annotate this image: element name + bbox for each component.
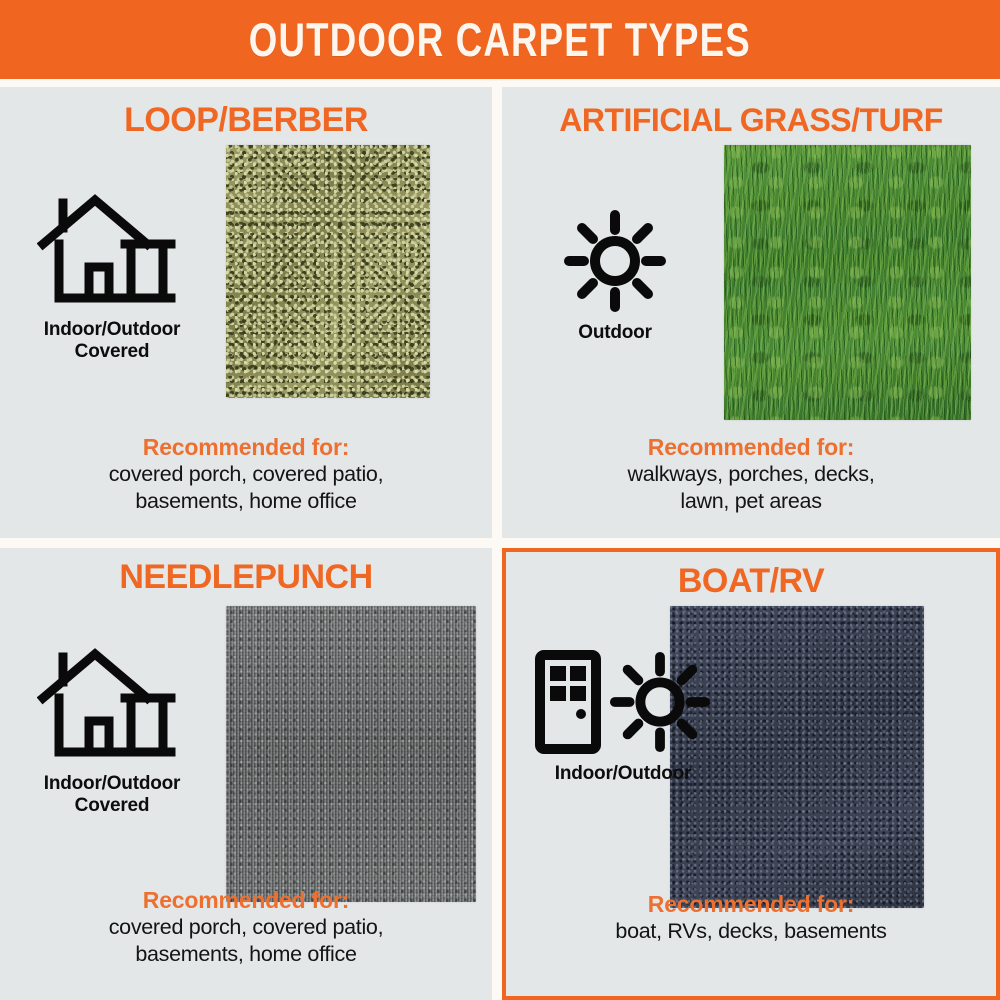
icon-block-boat-rv: Indoor/Outdoor: [528, 650, 718, 785]
recommendation-artificial-grass-turf: Recommended for: walkways, porches, deck…: [502, 433, 1000, 515]
icon-caption: Outdoor: [530, 322, 700, 344]
recommendation-needlepunch: Recommended for: covered porch, covered …: [0, 886, 492, 968]
icon-caption-line-2: Covered: [22, 341, 202, 363]
icon-caption: Indoor/Outdoor Covered: [22, 773, 202, 817]
sun-icon: [609, 651, 711, 758]
icon-row: [530, 209, 700, 318]
icon-caption-line-1: Indoor/Outdoor: [22, 773, 202, 795]
house-icon: [37, 194, 187, 315]
icon-block-needlepunch: Indoor/Outdoor Covered: [22, 648, 202, 817]
recommendation-body: covered porch, covered patio, basements,…: [0, 461, 492, 515]
recommendation-heading: Recommended for:: [502, 433, 1000, 461]
recommendation-body: covered porch, covered patio, basements,…: [0, 914, 492, 968]
loop-berber-carpet-swatch: [226, 145, 430, 398]
recommendation-line-2: basements, home office: [0, 488, 492, 515]
panel-title-needlepunch: NEEDLEPUNCH: [0, 558, 492, 596]
page-title: OUTDOOR CARPET TYPES: [249, 16, 751, 63]
icon-caption: Indoor/Outdoor: [528, 763, 718, 785]
icon-caption-line-1: Indoor/Outdoor: [22, 319, 202, 341]
recommendation-heading: Recommended for:: [506, 890, 996, 918]
recommendation-line-1: walkways, porches, decks,: [502, 461, 1000, 488]
icon-row: [528, 650, 718, 759]
panel-needlepunch[interactable]: NEEDLEPUNCH: [0, 548, 492, 1000]
recommendation-body: walkways, porches, decks, lawn, pet area…: [502, 461, 1000, 515]
recommendation-heading: Recommended for:: [0, 886, 492, 914]
panel-artificial-grass-turf[interactable]: ARTIFICIAL GRASS/TURF: [502, 87, 1000, 538]
outdoor-carpet-types-infographic: OUTDOOR CARPET TYPES LOOP/BERBER: [0, 0, 1000, 1000]
house-icon: [37, 648, 187, 769]
carpet-types-grid: LOOP/BERBER: [0, 87, 1000, 1000]
panel-title-loop-berber: LOOP/BERBER: [0, 101, 492, 139]
panel-title-boat-rv: BOAT/RV: [506, 562, 996, 600]
icon-block-artificial-grass-turf: Outdoor: [530, 209, 700, 344]
panel-boat-rv[interactable]: BOAT/RV: [502, 548, 1000, 1000]
icon-caption: Indoor/Outdoor Covered: [22, 319, 202, 363]
recommendation-loop-berber: Recommended for: covered porch, covered …: [0, 433, 492, 515]
recommendation-body: boat, RVs, decks, basements: [506, 918, 996, 945]
icon-row: [22, 194, 202, 315]
artificial-turf-swatch: [724, 145, 971, 420]
needlepunch-carpet-swatch: [226, 606, 476, 902]
recommendation-boat-rv: Recommended for: boat, RVs, decks, basem…: [506, 890, 996, 945]
icon-caption-line-1: Outdoor: [530, 322, 700, 344]
recommendation-line-2: basements, home office: [0, 941, 492, 968]
header-band: OUTDOOR CARPET TYPES: [0, 0, 1000, 79]
panel-loop-berber[interactable]: LOOP/BERBER: [0, 87, 492, 538]
recommendation-line-1: covered porch, covered patio,: [0, 461, 492, 488]
door-icon: [535, 650, 601, 759]
sun-icon: [563, 209, 667, 318]
recommendation-line-2: lawn, pet areas: [502, 488, 1000, 515]
recommendation-line-1: boat, RVs, decks, basements: [506, 918, 996, 945]
recommendation-heading: Recommended for:: [0, 433, 492, 461]
icon-row: [22, 648, 202, 769]
recommendation-line-1: covered porch, covered patio,: [0, 914, 492, 941]
icon-block-loop-berber: Indoor/Outdoor Covered: [22, 194, 202, 363]
panel-title-artificial-grass-turf: ARTIFICIAL GRASS/TURF: [502, 101, 1000, 139]
icon-caption-line-1: Indoor/Outdoor: [528, 763, 718, 785]
icon-caption-line-2: Covered: [22, 795, 202, 817]
